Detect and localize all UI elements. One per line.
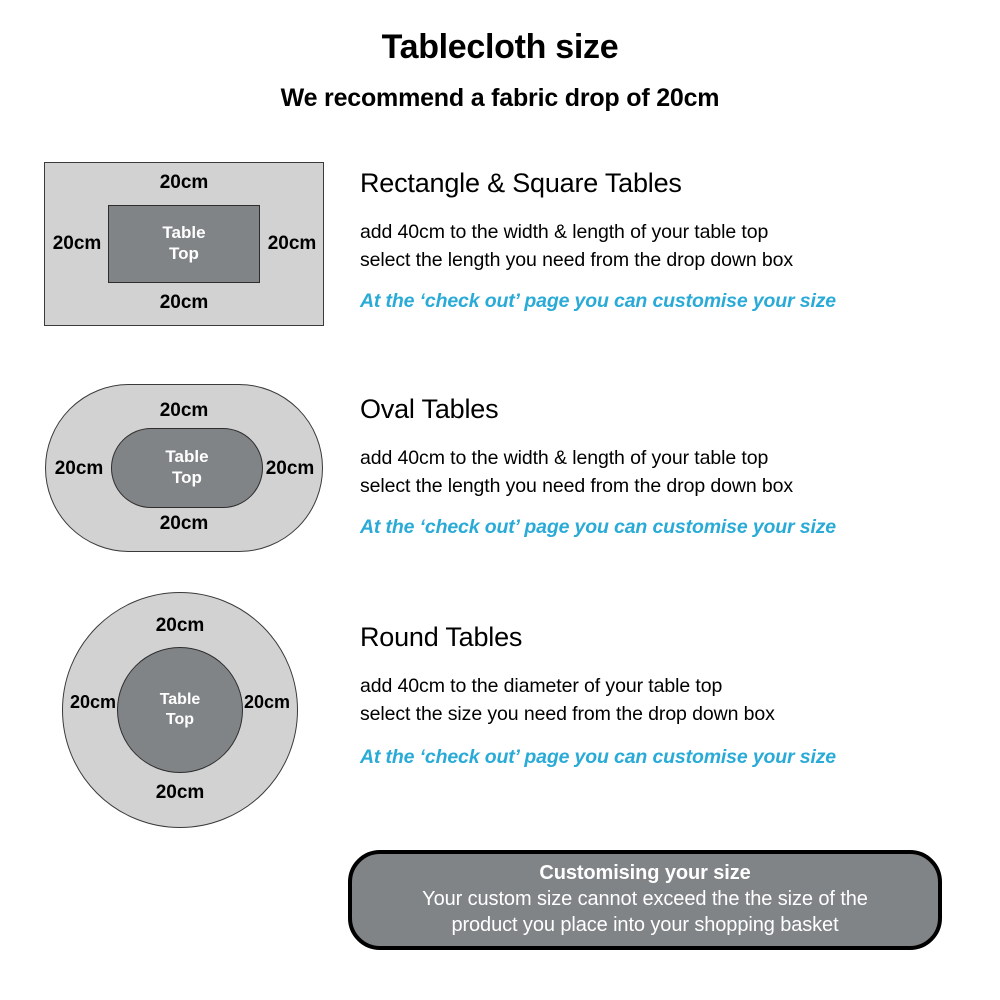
rectangle-checkout-note: At the ‘check out’ page you can customis… bbox=[360, 290, 980, 313]
oval-table-top: Table Top bbox=[111, 428, 263, 508]
oval-heading: Oval Tables bbox=[360, 394, 980, 425]
oval-drop-left: 20cm bbox=[48, 458, 110, 480]
round-drop-left: 20cm bbox=[66, 692, 120, 713]
rectangle-drop-top: 20cm bbox=[44, 172, 324, 194]
round-instruction-2: select the size you need from the drop d… bbox=[360, 701, 980, 729]
table-top-label-line1: Table bbox=[162, 223, 205, 244]
oval-section-text: Oval Tables add 40cm to the width & leng… bbox=[360, 394, 980, 539]
oval-checkout-note: At the ‘check out’ page you can customis… bbox=[360, 516, 980, 539]
round-drop-right: 20cm bbox=[240, 692, 294, 713]
table-top-label-line1: Table bbox=[160, 690, 201, 710]
oval-table-diagram: Table Top 20cm 20cm 20cm 20cm bbox=[45, 384, 323, 552]
round-heading: Round Tables bbox=[360, 622, 980, 653]
table-top-label-line1: Table bbox=[165, 447, 208, 468]
table-top-label-line2: Top bbox=[172, 468, 202, 489]
oval-instruction-1: add 40cm to the width & length of your t… bbox=[360, 445, 980, 473]
round-instruction-1: add 40cm to the diameter of your table t… bbox=[360, 673, 980, 701]
rectangle-table-top: Table Top bbox=[108, 205, 260, 283]
round-table-diagram: Table Top 20cm 20cm 20cm 20cm bbox=[62, 592, 298, 828]
rectangle-instruction-2: select the length you need from the drop… bbox=[360, 247, 980, 275]
oval-drop-top: 20cm bbox=[45, 400, 323, 422]
rectangle-heading: Rectangle & Square Tables bbox=[360, 168, 980, 199]
oval-drop-right: 20cm bbox=[259, 458, 321, 480]
callout-heading: Customising your size bbox=[539, 862, 750, 885]
oval-instruction-2: select the length you need from the drop… bbox=[360, 473, 980, 501]
rectangle-drop-bottom: 20cm bbox=[44, 292, 324, 314]
round-table-top: Table Top bbox=[117, 647, 243, 773]
rectangle-table-diagram: Table Top 20cm 20cm 20cm 20cm bbox=[44, 162, 324, 326]
round-checkout-note: At the ‘check out’ page you can customis… bbox=[360, 746, 980, 769]
round-drop-top: 20cm bbox=[62, 615, 298, 637]
table-top-label-line2: Top bbox=[166, 710, 194, 730]
oval-drop-bottom: 20cm bbox=[45, 513, 323, 535]
rectangle-section-text: Rectangle & Square Tables add 40cm to th… bbox=[360, 168, 980, 313]
callout-line-1: Your custom size cannot exceed the the s… bbox=[422, 886, 868, 912]
page-subtitle: We recommend a fabric drop of 20cm bbox=[0, 84, 1000, 113]
round-drop-bottom: 20cm bbox=[62, 782, 298, 804]
rectangle-drop-left: 20cm bbox=[46, 233, 108, 255]
round-section-text: Round Tables add 40cm to the diameter of… bbox=[360, 622, 980, 769]
customising-size-callout: Customising your size Your custom size c… bbox=[348, 850, 942, 950]
table-top-label-line2: Top bbox=[169, 244, 199, 265]
callout-line-2: product you place into your shopping bas… bbox=[451, 912, 838, 938]
rectangle-instruction-1: add 40cm to the width & length of your t… bbox=[360, 219, 980, 247]
page-title: Tablecloth size bbox=[0, 28, 1000, 67]
rectangle-drop-right: 20cm bbox=[261, 233, 323, 255]
